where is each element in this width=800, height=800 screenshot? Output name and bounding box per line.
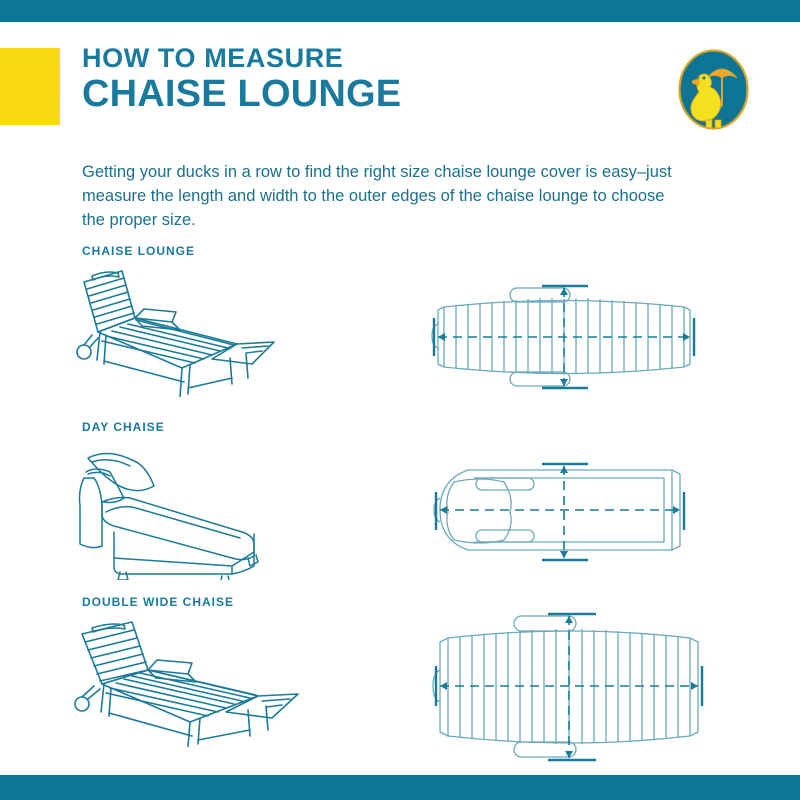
bottom-accent-bar <box>0 775 800 800</box>
upholstered-day-chaise-side-view-icon <box>62 440 312 580</box>
duck-with-umbrella-icon <box>677 48 750 131</box>
section-label-chaise-lounge: CHAISE LOUNGE <box>82 244 195 258</box>
slatted-chaise-lounge-side-view-icon <box>62 262 312 397</box>
double-wide-chaise-top-view-icon <box>424 606 714 766</box>
section-label-double-wide-chaise: DOUBLE WIDE CHAISE <box>82 595 234 609</box>
page-eyebrow: HOW TO MEASURE <box>82 44 682 72</box>
page-title: CHAISE LOUNGE <box>82 74 682 114</box>
page-header: HOW TO MEASURE CHAISE LOUNGE <box>82 44 682 115</box>
double-wide-chaise-side-view-icon <box>62 612 322 747</box>
top-accent-bar <box>0 0 800 22</box>
section-label-day-chaise: DAY CHAISE <box>82 420 165 434</box>
measuring-guide-page: HOW TO MEASURE CHAISE LOUNGE Getting you… <box>0 0 800 800</box>
intro-paragraph: Getting your ducks in a row to find the … <box>82 160 682 233</box>
upholstered-day-chaise-top-view-icon <box>424 448 704 573</box>
yellow-accent-block <box>0 48 60 125</box>
slatted-chaise-lounge-top-view-icon <box>424 272 704 397</box>
